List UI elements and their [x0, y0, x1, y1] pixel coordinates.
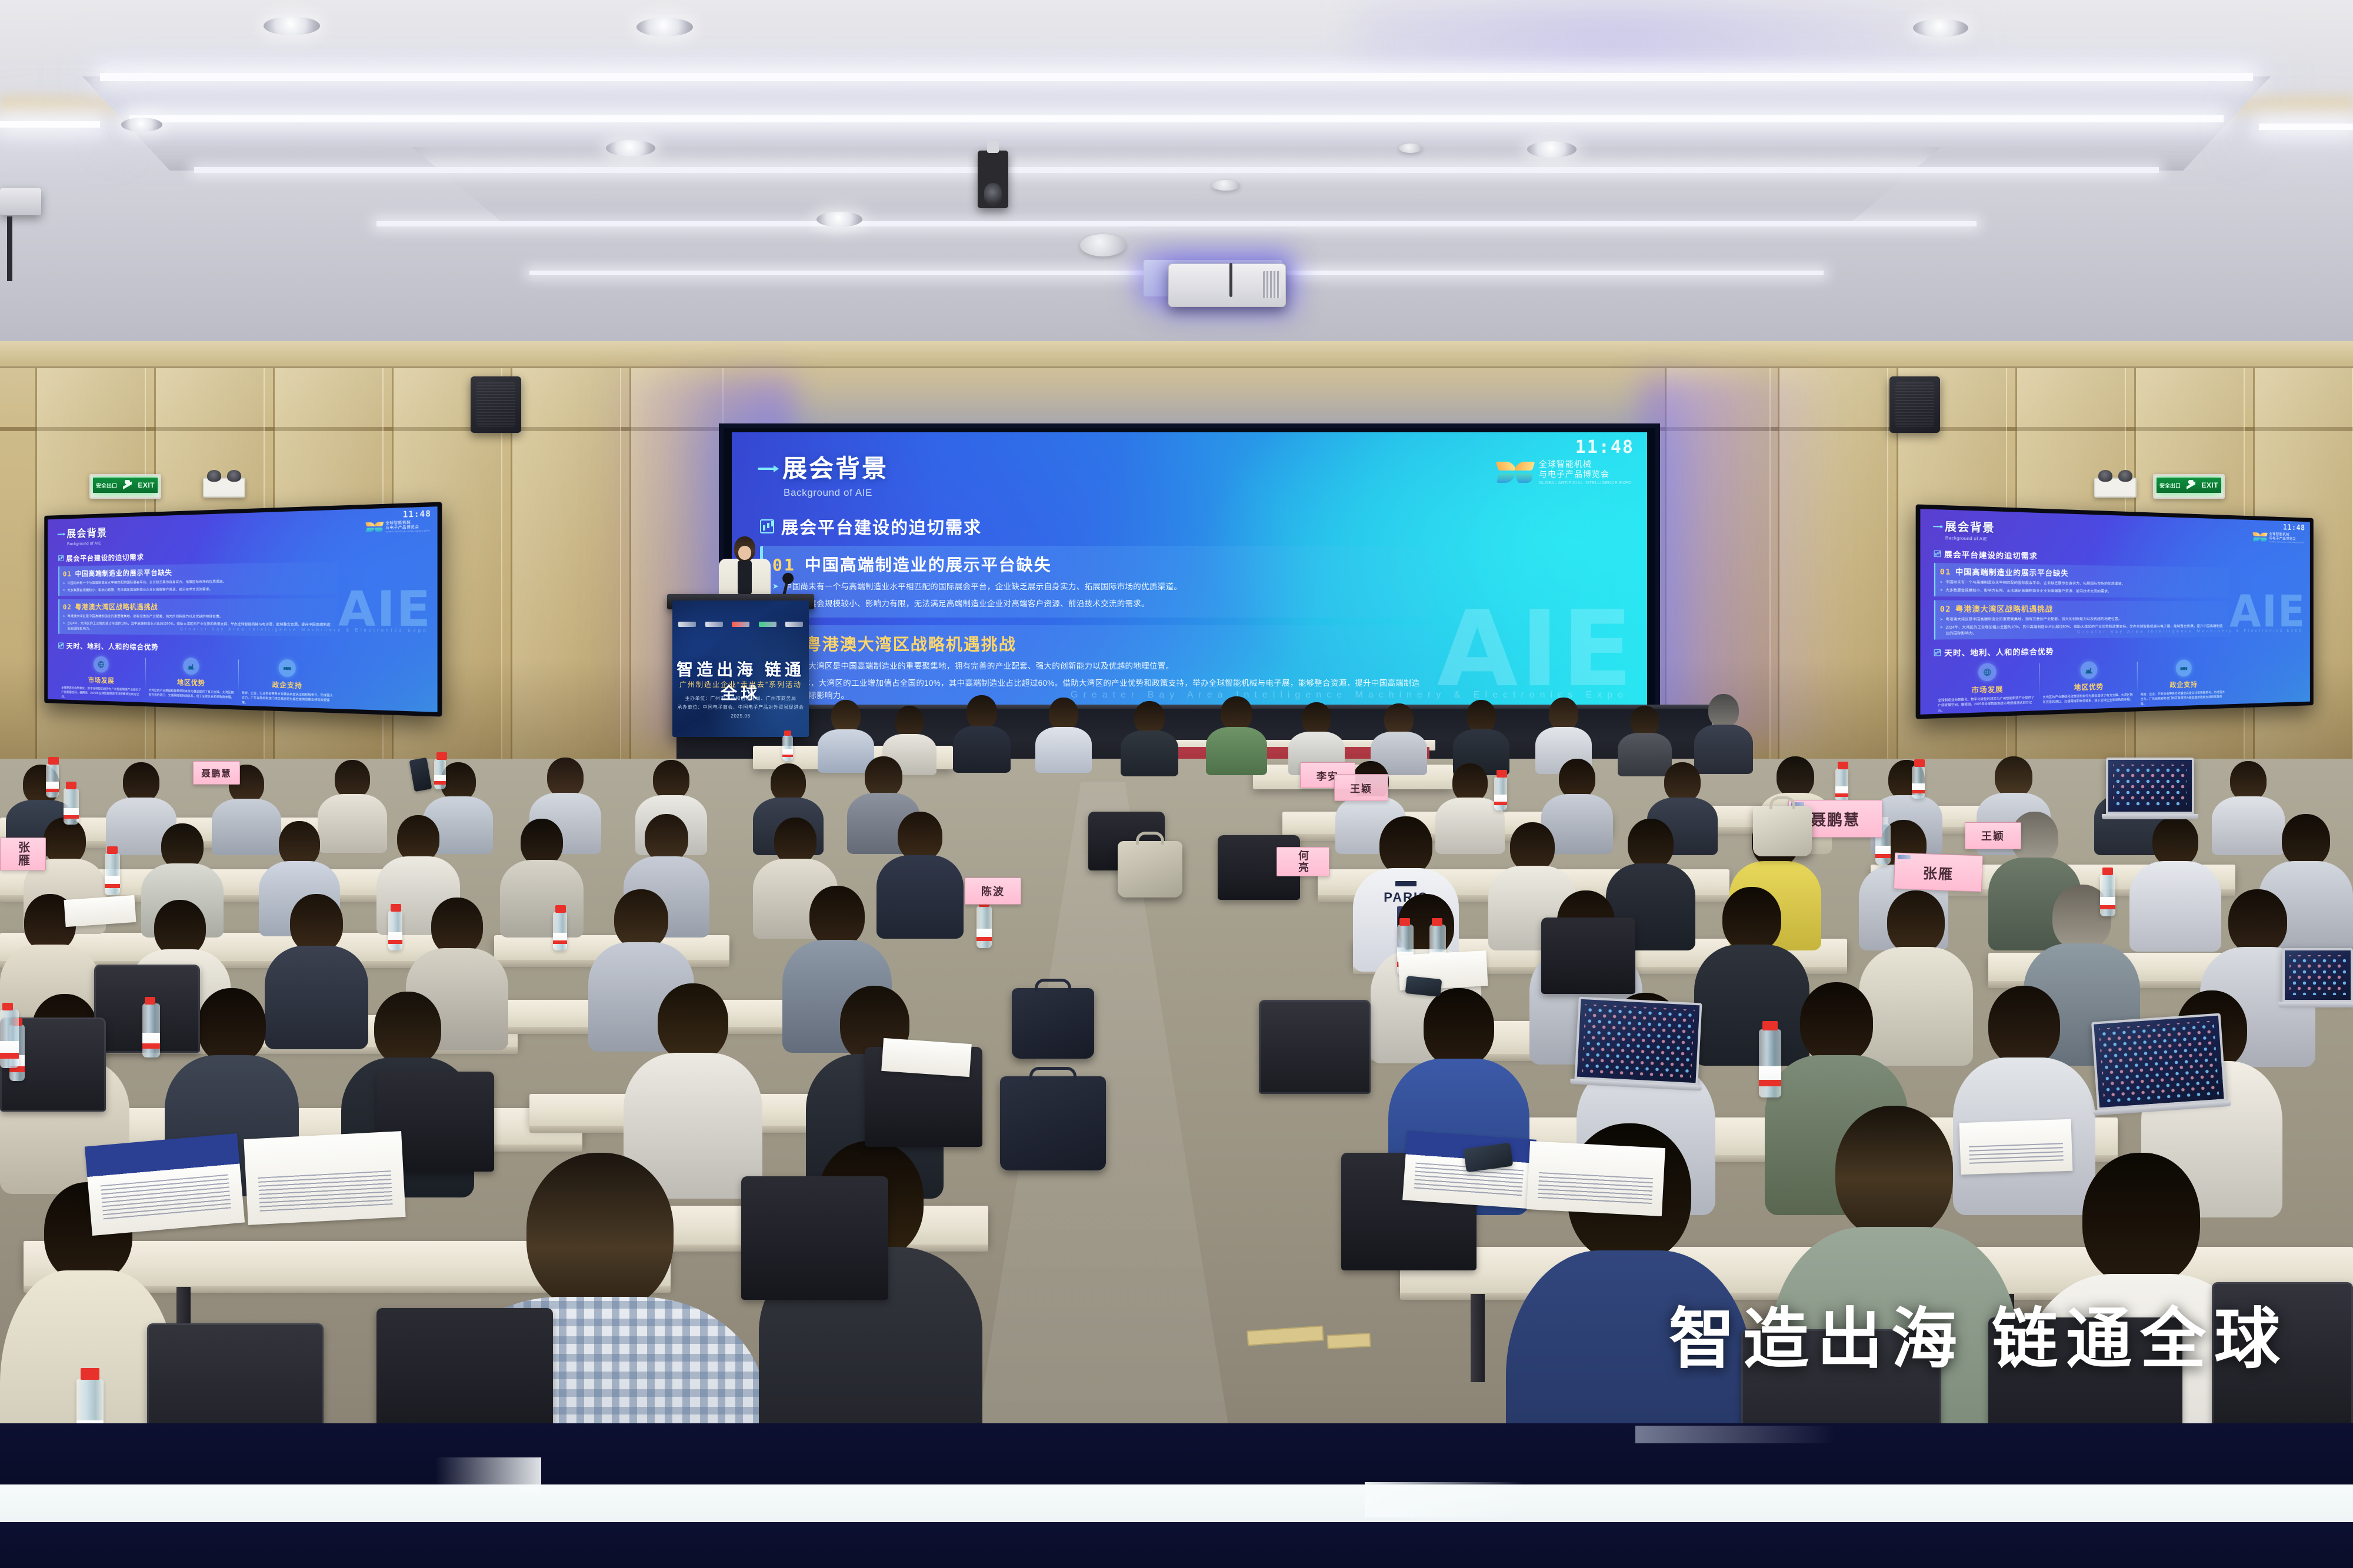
water-bottle[interactable] [434, 759, 446, 789]
advantage-title-policy-right: 政企支持 [2141, 678, 2226, 690]
attendee-stagefront-4 [1035, 698, 1092, 770]
podium: 智造出海 链通全球 广州制造业企业“走出去”系列活动 主办单位：广州市工业和信息… [672, 600, 809, 737]
chair[interactable] [1259, 1000, 1371, 1094]
jersey-collar-bar [1395, 881, 1417, 886]
bullet-text: 中国尚未有一个与高端制造业水平相匹配的国际展会平台，企业缺乏展示自身实力、拓展国… [1945, 579, 2125, 587]
chevron-right-icon: ➤ [1940, 616, 1943, 622]
slide-card-01-bullet-2: ➤ 大多数展会规模较小、影响力有限，无法满足高端制造业企业对高端客户资源、前沿技… [772, 598, 1426, 610]
slide-title-zh-right: 展会背景 [1945, 518, 1995, 536]
water-bottle[interactable] [1759, 1029, 1781, 1097]
handout-document[interactable] [64, 895, 136, 927]
card-02-number-left: 02 [63, 603, 72, 611]
overlay-headline: 智造出海 链通全球 [1669, 1286, 2288, 1381]
slide-clock: 11:48 [1575, 437, 1634, 458]
attendee-head [774, 818, 816, 865]
attendee-head [1664, 762, 1701, 802]
attendee-stagefront-5 [1121, 701, 1178, 774]
card-01-head-left: 01 中国高端制造业的展示平台缺失 [63, 565, 334, 578]
laptop[interactable] [2282, 948, 2353, 1002]
card-01-head-right: 01 中国高端制造业的展示平台缺失 [1940, 566, 2225, 580]
water-bottle[interactable] [46, 763, 59, 798]
attendee-body [1206, 727, 1267, 775]
exit-sign-left: 安全出口 EXIT [89, 474, 161, 499]
attendee-head [2228, 889, 2287, 954]
handout-document[interactable] [881, 1038, 972, 1077]
chevron-right-icon: ➤ [772, 581, 779, 593]
band-fade-mid [1365, 1482, 1524, 1517]
logo-line-2-right: 与电子产品博览会 [2269, 536, 2304, 541]
ceiling-light-strip-3 [194, 167, 2159, 173]
placard-name: 王颖 [1981, 828, 2005, 843]
aie-watermark-right: AIE [2229, 593, 2306, 630]
tote-bag-handle [1769, 796, 1795, 809]
bullet-text: 粤港澳大湾区是中国高端制造业的重要聚集地，拥有完善的产业配套、强大的创新能力以及… [67, 613, 222, 619]
arrow-icon-left [58, 533, 64, 535]
laptop-desktop-icons [2289, 955, 2346, 995]
attendee-head [658, 983, 728, 1061]
laptop-desktop-icons [2113, 765, 2187, 807]
card-01-number-right: 01 [1940, 568, 1951, 577]
laptop-base [2102, 814, 2198, 819]
slide-card-01-head: 01 中国高端制造业的展示平台缺失 [772, 552, 1426, 576]
logo-line-2: 与电子产品博览会 [1539, 469, 1632, 479]
section-1-title-left: 展会平台建设的迫切需求 [66, 551, 144, 563]
attendee-head [198, 988, 266, 1063]
chart-bars-icon-left-2 [58, 642, 64, 648]
attendee-body [953, 726, 1011, 773]
logo-line-3-left: GLOBAL ARTIFICIAL INTELLIGENCE EXPO [385, 530, 430, 533]
attendee-head [335, 760, 370, 799]
attendee-head [1708, 694, 1739, 728]
podium-org-line-2: 承办单位：中国电子商会、中国电子产品对外贸易促进会 [672, 703, 809, 712]
table-leg [1471, 1294, 1485, 1382]
handshake-icon-left [279, 659, 296, 677]
water-bottle[interactable] [1912, 766, 1925, 799]
slide-card-01-bullet-1: ➤ 中国尚未有一个与高端制造业水平相匹配的国际展会平台，企业缺乏展示自身实力、拓… [772, 581, 1426, 593]
attendee-head [2082, 1153, 2200, 1286]
led-wall-screen: AIE Greater Bay Area Intelligence Machin… [732, 432, 1647, 709]
attendee-head [898, 812, 942, 861]
aie-logo-text-left: 全球智能机械 与电子产品博览会 GLOBAL ARTIFICIAL INTELL… [385, 519, 430, 533]
brochure[interactable] [85, 1133, 245, 1236]
tote-bag[interactable] [1753, 806, 1812, 856]
attendee-head [44, 818, 86, 865]
tote-bag-handle [1136, 832, 1164, 845]
exit-sign-label-zh: 安全出口 [96, 482, 117, 489]
attendee-head [1800, 982, 1873, 1063]
ceiling-downlight-1 [264, 16, 320, 35]
attendee-stagefront-3 [953, 695, 1011, 770]
backpack[interactable] [1012, 988, 1094, 1059]
section-2-head-right: 天时、地利、人和的综合优势 [1934, 643, 2229, 659]
attendee-head [161, 823, 204, 869]
advantage-title-policy-left: 政企支持 [242, 678, 334, 691]
slide-title-zh: 展会背景 [782, 449, 888, 485]
attendee-head [123, 762, 159, 802]
ceiling-recess-inner [412, 147, 1941, 223]
laptop[interactable] [2091, 1013, 2227, 1110]
advantage-desc-market-left: 全球制造业向智能化、数字化转型的趋势为广州智能制造产业提供了广阔发展空间。据预测… [61, 685, 142, 702]
document-text-lines [258, 1170, 392, 1212]
aie-logo: 全球智能机械 与电子产品博览会 GLOBAL ARTIFICIAL INTELL… [1497, 459, 1632, 486]
slide-title-zh-left: 展会背景 [66, 525, 107, 541]
card-01-left: 01 中国高端制造业的展示平台缺失 ➤ 中国尚未有一个与高端制造业水平相匹配的国… [58, 562, 338, 596]
attendee-head [1384, 703, 1414, 735]
aie-watermark: AIE [1437, 606, 1635, 692]
backpack-handle [1029, 1067, 1076, 1080]
advantage-column-region-right: 地区优势 大湾区的产业基础和政策便利条件为展会提供了有力支撑。大湾区拥有完善的港… [2039, 660, 2137, 710]
attendee-head [614, 889, 668, 949]
section-2-head-left: 天时、地利、人和的综合优势 [58, 640, 338, 655]
section-1-head-right: 展会平台建设的迫切需求 [1934, 548, 2229, 564]
smoke-detector-2 [1212, 180, 1240, 191]
attendee-head [645, 814, 688, 862]
laptop-desktop-icons [2099, 1020, 2219, 1102]
placard-name: 聂鹏慧 [1811, 808, 1860, 830]
exit-sign-label-en: EXIT [138, 481, 155, 489]
handout-document[interactable] [244, 1131, 405, 1225]
slide-title-en: Background of AIE [784, 487, 1435, 499]
attendee-head [653, 760, 689, 800]
attendee-head [1049, 698, 1078, 730]
bullet-text: 2024年，大湾区的工业增加值占全国的10%，其中高端制造业占比超过60%。借助… [1945, 623, 2225, 636]
card-01-bullet-2-right: ➤ 大多数展会规模较小、影响力有限，无法满足高端制造业企业对高端客户资源、前沿技… [1940, 587, 2225, 595]
attendee-head [2230, 761, 2267, 801]
chart-bars-icon-right [1934, 551, 1941, 558]
bullet-text: 粤港澳大湾区是中国高端制造业的重要聚集地，拥有完善的产业配套、强大的创新能力以及… [1945, 616, 2121, 622]
side-slide-content-left: 展会背景 Background of AIE 展会平台建设的迫切需求 01 中国… [58, 518, 338, 709]
sponsor-logo-1 [678, 622, 696, 627]
advantage-desc-policy-left: 政府、企业、行业协会等各方对展会高度关注和积极参与，形成强大合力。广东省政府和澳… [242, 690, 334, 708]
section-1-title-right: 展会平台建设的迫切需求 [1944, 548, 2038, 561]
advantage-columns-right: 市场发展 全球制造业向智能化、数字化转型的趋势为广州智能制造产业提供了广阔发展空… [1934, 659, 2229, 713]
globe-network-icon-right [1978, 663, 1997, 681]
attendee-stagefront-9 [1453, 700, 1509, 773]
podium-organizers: 主办单位：广州市工业和信息化局、广州市商务局 承办单位：中国电子商会、中国电子产… [672, 695, 809, 720]
name-placard: 何亮 [1277, 847, 1329, 876]
attendee-head [1887, 890, 1945, 954]
chair[interactable] [1541, 918, 1635, 994]
logo-line-2-left: 与电子产品博览会 [385, 524, 430, 530]
aie-logo-left: 全球智能机械 与电子产品博览会 GLOBAL ARTIFICIAL INTELL… [366, 519, 430, 533]
bullet-text: 粤港澳大湾区是中国高端制造业的重要聚集地，拥有完善的产业配套、强大的创新能力以及… [784, 660, 1174, 672]
laptop-screen [2106, 758, 2194, 814]
podium-sponsor-logos [678, 619, 803, 629]
tote-bag[interactable] [1118, 841, 1182, 898]
attendee-head [1221, 696, 1252, 730]
sponsor-logo-2 [705, 622, 723, 627]
side-display-left: AIE Greater Bay Area Intelligence Machin… [44, 502, 442, 716]
brochure-text-lines [101, 1175, 232, 1222]
card-02-title-right: 粤港澳大湾区战略机遇挑战 [1955, 603, 2053, 614]
handout-document[interactable] [1959, 1119, 2073, 1175]
wall-projector-pole [7, 216, 12, 281]
card-02-right: 02 粤港澳大湾区战略机遇挑战 ➤ 粤港澳大湾区是中国高端制造业的重要聚集地，拥… [1934, 600, 2229, 639]
attendee-left-r2-e [500, 819, 584, 933]
water-bottle[interactable] [553, 912, 567, 950]
card-02-bullet-1-left: ➤ 粤港澳大湾区是中国高端制造业的重要聚集地，拥有完善的产业配套、强大的创新能力… [63, 613, 334, 619]
side-display-left-screen: AIE Greater Bay Area Intelligence Machin… [48, 506, 437, 712]
side-slide-left: AIE Greater Bay Area Intelligence Machin… [48, 506, 437, 637]
podium-subtitle: 广州制造业企业“走出去”系列活动 [672, 679, 809, 689]
floor-marker-tape-2 [1327, 1333, 1371, 1349]
attendee-head [1510, 822, 1555, 872]
ceiling-light-strip-left-edge [0, 121, 100, 128]
bullet-text: 2024年，大湾区的工业增加值占全国的10%，其中高端制造业占比超过60%。借助… [784, 677, 1426, 702]
water-bottle[interactable] [1835, 768, 1848, 802]
sponsor-logo-5 [785, 622, 803, 627]
laptop[interactable] [1574, 997, 1702, 1086]
laptop[interactable] [2106, 758, 2194, 814]
placard-name: 张雁 [15, 841, 32, 867]
name-placard: 王颖 [1965, 822, 2021, 849]
backpack-handle [1035, 979, 1071, 992]
ceiling-downlight-5 [1527, 141, 1577, 158]
side-display-right: AIE Greater Bay Area Intelligence Machin… [1916, 504, 2314, 719]
name-placard: 张雁 [0, 838, 46, 870]
chevron-right-icon: ➤ [1940, 587, 1943, 593]
factory-icon-right [2081, 661, 2098, 679]
emergency-light-right [2094, 478, 2137, 498]
card-02-left: 02 粤港澳大湾区战略机遇挑战 ➤ 粤港澳大湾区是中国高端制造业的重要聚集地，拥… [58, 598, 338, 636]
bottom-band-navy-top [0, 1423, 2353, 1484]
card-02-title-left: 粤港澳大湾区战略机遇挑战 [75, 602, 158, 612]
band-fade-right [1635, 1426, 1835, 1443]
slide-card-01-number: 01 [772, 555, 796, 575]
side-display-right-screen: AIE Greater Bay Area Intelligence Machin… [1920, 509, 2309, 715]
advantage-column-region-left: 地区优势 大湾区的产业基础和政策便利条件为展会提供了有力支撑。大湾区拥有完善的港… [145, 657, 238, 705]
water-bottle[interactable] [105, 853, 120, 895]
card-01-bullet-1-left: ➤ 中国尚未有一个与高端制造业水平相匹配的国际展会平台，企业缺乏展示自身实力、拓… [63, 578, 334, 586]
attendee-head [397, 815, 439, 862]
ceiling-downlight-3 [816, 212, 862, 227]
advantage-column-market-right: 市场发展 全球制造业向智能化、数字化转型的趋势为广州智能制造产业提供了广阔发展空… [1934, 662, 2039, 713]
ceiling-downlight-7 [121, 118, 162, 132]
placard-name: 陈波 [981, 883, 1005, 899]
attendee-head [895, 706, 924, 738]
card-02-bullet-1-right: ➤ 粤港澳大湾区是中国高端制造业的重要聚集地，拥有完善的产业配套、强大的创新能力… [1940, 616, 2225, 622]
bullet-text: 2024年，大湾区的工业增加值占全国的10%，其中高端制造业占比超过60%。借助… [67, 620, 333, 633]
bottom-band-white [0, 1484, 2353, 1522]
chevron-right-icon: ➤ [63, 620, 65, 631]
laptop-screen [2091, 1013, 2227, 1110]
attendee-head [547, 758, 584, 798]
card-01-title-left: 中国高端制造业的展示平台缺失 [75, 567, 172, 578]
bullet-text: 中国尚未有一个与高端制造业水平相匹配的国际展会平台，企业缺乏展示自身实力、拓展国… [67, 579, 226, 586]
attendee-head [865, 756, 902, 798]
card-02-number-right: 02 [1940, 605, 1951, 614]
laptop-screen [1574, 997, 1702, 1086]
chart-bars-icon-left [58, 555, 64, 561]
sponsor-logo-4 [759, 622, 776, 627]
bottom-band-navy-bottom [0, 1522, 2353, 1568]
slide-title-row: 展会背景 [758, 449, 1435, 485]
chevron-right-icon: ➤ [1940, 625, 1943, 636]
camera-lens [984, 183, 1001, 206]
water-bottle[interactable] [976, 906, 992, 948]
water-bottle[interactable] [388, 910, 402, 950]
slide-card-02-title: 粤港澳大湾区战略机遇挑战 [805, 632, 1016, 655]
card-02-head-left: 02 粤港澳大湾区战略机遇挑战 [63, 601, 334, 612]
arrow-icon [758, 468, 775, 470]
chevron-right-icon: ➤ [63, 613, 65, 619]
card-01-bullet-2-left: ➤ 大多数展会规模较小、影响力有限，无法满足高端制造业企业对高端客户资源、前沿技… [63, 586, 334, 593]
attendee-head [1379, 816, 1432, 875]
advantage-column-market-left: 市场发展 全球制造业向智能化、数字化转型的趋势为广州智能制造产业提供了广阔发展空… [58, 655, 145, 702]
advantage-title-region-right: 地区优势 [2043, 680, 2134, 693]
bullet-text: 大多数展会规模较小、影响力有限，无法满足高端制造业企业对高端客户资源、前沿技术交… [784, 598, 1149, 610]
advantage-title-market-right: 市场发展 [1938, 683, 2035, 696]
advantage-title-market-left: 市场发展 [61, 674, 142, 686]
attendee-head [521, 819, 563, 866]
attendee-head [1835, 1106, 1953, 1239]
ceiling-downlight-2 [636, 18, 693, 36]
advantage-desc-market-right: 全球制造业向智能化、数字化转型的趋势为广州智能制造产业提供了广阔发展空间。据预测… [1938, 695, 2035, 713]
attendee-stagefront-6-green [1206, 696, 1267, 773]
attendee-head [1628, 819, 1674, 869]
exit-sign-right: 安全出口 EXIT [2153, 474, 2225, 499]
water-bottle[interactable] [0, 1009, 19, 1068]
aie-logo-text-right: 全球智能机械 与电子产品博览会 GLOBAL ARTIFICIAL INTELL… [2269, 532, 2304, 543]
laptop-base [2278, 1002, 2353, 1007]
conference-room-photo: 安全出口 EXIT 安全出口 EXIT AIE Greater Bay Area… [0, 0, 2353, 1568]
water-bottle[interactable] [1494, 776, 1507, 810]
card-02-head-right: 02 粤港澳大湾区战略机遇挑战 [1940, 603, 2225, 614]
ceiling-light-strip-2 [129, 115, 2224, 122]
slide-clock-right: 11:48 [2283, 523, 2305, 532]
card-02-bullet-2-left: ➤ 2024年，大湾区的工业增加值占全国的10%，其中高端制造业占比超过60%。… [63, 620, 334, 633]
aie-logo-right: 全球智能机械 与电子产品博览会 GLOBAL ARTIFICIAL INTELL… [2253, 531, 2304, 543]
aie-logo-text: 全球智能机械 与电子产品博览会 GLOBAL ARTIFICIAL INTELL… [1539, 459, 1632, 486]
logo-line-3: GLOBAL ARTIFICIAL INTELLIGENCE EXPO [1539, 481, 1632, 486]
exit-sign-green-panel: 安全出口 EXIT [93, 478, 158, 493]
placard-name: 王颖 [1350, 780, 1372, 795]
ceiling-downlight-6 [1913, 19, 1968, 37]
attendee-head [1988, 986, 2060, 1066]
attendee-head [374, 992, 441, 1066]
advantage-column-policy-right: 政企支持 政府、企业、行业协会等各方对展会高度关注和积极参与，形成强大合力。广东… [2137, 659, 2229, 706]
ceiling-downlight-4 [606, 140, 655, 156]
attendee-head [1424, 988, 1494, 1067]
attendee-head [1302, 702, 1331, 735]
attendee-head [2152, 816, 2198, 867]
slide-content: 展会背景 Background of AIE 展会平台建设的迫切需求 01 中国… [758, 449, 1435, 709]
aie-logo-mark-icon-right [2253, 532, 2267, 542]
attendee-head [771, 763, 806, 802]
advantage-desc-policy-right: 政府、企业、行业协会等各方对展会高度关注和积极参与，形成强大合力。广东省政府和澳… [2141, 690, 2226, 707]
slide-card-02-bullet-2: ➤ 2024年，大湾区的工业增加值占全国的10%，其中高端制造业占比超过60%。… [772, 677, 1426, 702]
running-man-icon [123, 480, 132, 491]
card-02-bullet-2-right: ➤ 2024年，大湾区的工业增加值占全国的10%，其中高端制造业占比超过60%。… [1940, 623, 2225, 636]
advantage-columns-left: 市场发展 全球制造业向智能化、数字化转型的趋势为广州智能制造产业提供了广阔发展空… [58, 655, 338, 708]
advantage-column-policy-left: 政企支持 政府、企业、行业协会等各方对展会高度关注和积极参与，形成强大合力。广东… [238, 659, 338, 709]
chart-bars-icon [760, 519, 774, 533]
attendee-head [809, 886, 865, 947]
attendee-head [1549, 698, 1578, 730]
advantage-title-region-left: 地区优势 [149, 676, 235, 689]
projector-vent [1263, 271, 1281, 298]
bullet-text: 大多数展会规模较小、影响力有限，无法满足高端制造业企业对高端客户资源、前沿技术交… [67, 586, 212, 593]
water-bottle[interactable] [142, 1003, 160, 1057]
presenter-inner-top [738, 560, 752, 595]
camera-mount [987, 141, 999, 153]
name-placard: 王颖 [1334, 774, 1388, 801]
chevron-right-icon: ➤ [1940, 579, 1943, 585]
logo-line-3-right: GLOBAL ARTIFICIAL INTELLIGENCE EXPO [2269, 541, 2304, 544]
handout-document[interactable] [1527, 1141, 1665, 1216]
attendee-head [1134, 701, 1165, 734]
emergency-light-left [203, 478, 245, 498]
water-bottle[interactable] [64, 788, 79, 825]
attendee-head [1467, 700, 1496, 733]
attendee-head [1559, 759, 1595, 799]
slide-section-1-title: 展会平台建设的迫切需求 [781, 514, 982, 539]
arrow-icon-right [1933, 526, 1941, 527]
placard-name: 何亮 [1295, 850, 1311, 873]
placard-name: 聂鹏慧 [201, 767, 231, 779]
attendee-head [279, 821, 320, 867]
exit-sign-label-zh-right: 安全出口 [2159, 482, 2181, 489]
chart-bars-icon-right-2 [1934, 649, 1941, 656]
water-bottle[interactable] [2100, 874, 2115, 916]
attendee-head [1452, 763, 1488, 802]
smartphone[interactable] [1405, 976, 1442, 997]
advantage-desc-region-right: 大湾区的产业基础和政策便利条件为展会提供了有力支撑。大湾区拥有完善的港口、交通网… [2043, 692, 2134, 705]
laptop-desktop-icons [1582, 1004, 1695, 1078]
projector-cable [1229, 263, 1232, 297]
attendee-head [831, 700, 861, 733]
slide-card-02-bullet-1: ➤ 粤港澳大湾区是中国高端制造业的重要聚集地，拥有完善的产业配套、强大的创新能力… [772, 660, 1426, 672]
card-01-title-right: 中国高端制造业的展示平台缺失 [1955, 566, 2069, 579]
smoke-detector-1 [1080, 234, 1126, 256]
placard-name: 何亮 [1900, 855, 1929, 875]
attendee-body [500, 860, 584, 938]
slide-clock-left: 11:48 [403, 509, 431, 519]
podium-date: 2025.06 [672, 712, 809, 721]
slide-card-02-head: 02 粤港澳大湾区战略机遇挑战 [772, 632, 1426, 655]
slide-section-1-head: 展会平台建设的迫切需求 [760, 514, 1435, 539]
ceiling-projector [1168, 263, 1286, 307]
attendee-head [966, 695, 997, 729]
water-bottle[interactable] [782, 735, 793, 761]
bullet-text: 大多数展会规模较小、影响力有限，无法满足高端制造业企业对高端客户资源、前沿技术交… [1945, 588, 2111, 595]
attendee-head [290, 894, 343, 953]
attendee-head [154, 900, 206, 956]
exit-sign-green-panel-right: 安全出口 EXIT [2157, 478, 2221, 493]
name-placard: 陈波 [965, 878, 1021, 905]
wall-projector-left [0, 188, 41, 215]
attendee-head [1722, 887, 1781, 952]
card-01-number-left: 01 [63, 570, 72, 578]
smoke-detector-3 [1399, 144, 1422, 153]
backpack[interactable] [1000, 1076, 1106, 1170]
chevron-right-icon: ➤ [63, 581, 65, 586]
section-2-title-left: 天时、地利、人和的综合优势 [66, 640, 159, 652]
logo-line-1: 全球智能机械 [1539, 459, 1632, 469]
ceiling-light-strip-1 [100, 73, 2253, 81]
chair[interactable] [741, 1176, 888, 1300]
aie-logo-mark-icon [1497, 461, 1534, 484]
attendee-head [441, 762, 476, 801]
slide-card-02: 02 粤港澳大湾区战略机遇挑战 ➤ 粤港澳大湾区是中国高端制造业的重要聚集地，拥… [760, 625, 1435, 709]
slide-card-01: 01 中国高端制造业的展示平台缺失 ➤ 中国尚未有一个与高端制造业水平相匹配的国… [760, 546, 1435, 618]
attendee-head [526, 1153, 674, 1312]
document-text-lines [1969, 1143, 2064, 1167]
chevron-right-icon: ➤ [63, 588, 65, 593]
bullet-text: 中国尚未有一个与高端制造业水平相匹配的国际展会平台，企业缺乏展示自身实力、拓展国… [784, 581, 1182, 593]
attendee-head [431, 898, 483, 955]
attendee-head [1995, 756, 2032, 798]
